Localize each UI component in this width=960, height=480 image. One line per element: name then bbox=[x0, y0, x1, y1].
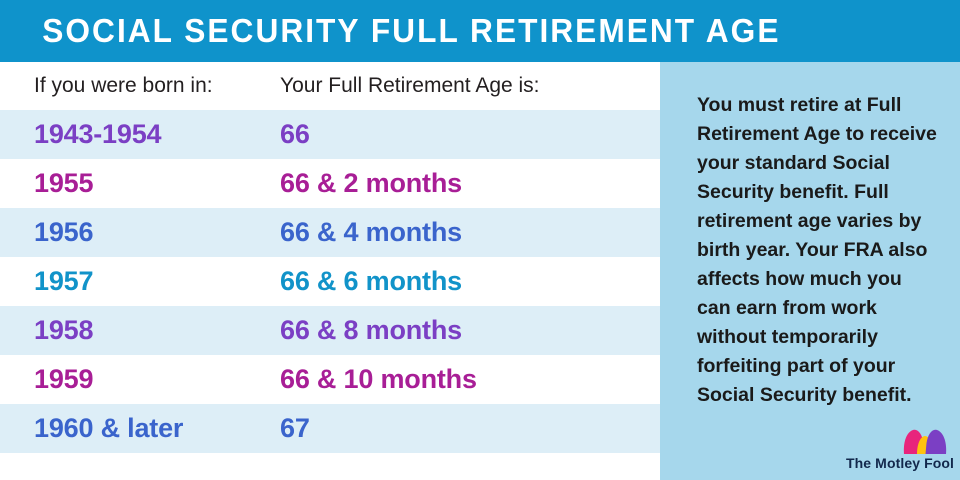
table-header-row: If you were born in: Your Full Retiremen… bbox=[0, 62, 660, 110]
cell-birth-year: 1955 bbox=[0, 168, 280, 199]
column-header-retirement-age: Your Full Retirement Age is: bbox=[280, 74, 660, 98]
body-region: If you were born in: Your Full Retiremen… bbox=[0, 62, 960, 480]
cell-full-retirement-age: 66 & 2 months bbox=[280, 168, 660, 199]
page-title: SOCIAL SECURITY FULL RETIREMENT AGE bbox=[0, 12, 780, 50]
cell-birth-year: 1956 bbox=[0, 217, 280, 248]
retirement-age-table: If you were born in: Your Full Retiremen… bbox=[0, 62, 660, 480]
table-body: 1943-195466195566 & 2 months195666 & 4 m… bbox=[0, 110, 660, 453]
cell-full-retirement-age: 67 bbox=[280, 413, 660, 444]
table-row: 1943-195466 bbox=[0, 110, 660, 159]
table-row: 1960 & later67 bbox=[0, 404, 660, 453]
logo-wordmark: The Motley Fool bbox=[846, 456, 954, 472]
header-bar: SOCIAL SECURITY FULL RETIREMENT AGE bbox=[0, 0, 960, 62]
cell-full-retirement-age: 66 & 4 months bbox=[280, 217, 660, 248]
table-row: 195766 & 6 months bbox=[0, 257, 660, 306]
infographic-root: SOCIAL SECURITY FULL RETIREMENT AGE If y… bbox=[0, 0, 960, 480]
cell-full-retirement-age: 66 bbox=[280, 119, 660, 150]
sidebar-body-text: You must retire at Full Retirement Age t… bbox=[697, 91, 937, 410]
cell-birth-year: 1959 bbox=[0, 364, 280, 395]
table-row: 195666 & 4 months bbox=[0, 208, 660, 257]
sidebar-panel: You must retire at Full Retirement Age t… bbox=[660, 62, 960, 480]
cell-full-retirement-age: 66 & 8 months bbox=[280, 315, 660, 346]
cell-full-retirement-age: 66 & 10 months bbox=[280, 364, 660, 395]
cell-birth-year: 1958 bbox=[0, 315, 280, 346]
table-row: 195866 & 8 months bbox=[0, 306, 660, 355]
brand-logo[interactable]: The Motley Fool bbox=[846, 438, 954, 472]
column-header-birth-year: If you were born in: bbox=[0, 74, 280, 98]
cell-birth-year: 1957 bbox=[0, 266, 280, 297]
cell-birth-year: 1943-1954 bbox=[0, 119, 280, 150]
jester-hat-icon bbox=[902, 429, 948, 455]
table-row: 195966 & 10 months bbox=[0, 355, 660, 404]
table-row: 195566 & 2 months bbox=[0, 159, 660, 208]
cell-birth-year: 1960 & later bbox=[0, 413, 280, 444]
cell-full-retirement-age: 66 & 6 months bbox=[280, 266, 660, 297]
